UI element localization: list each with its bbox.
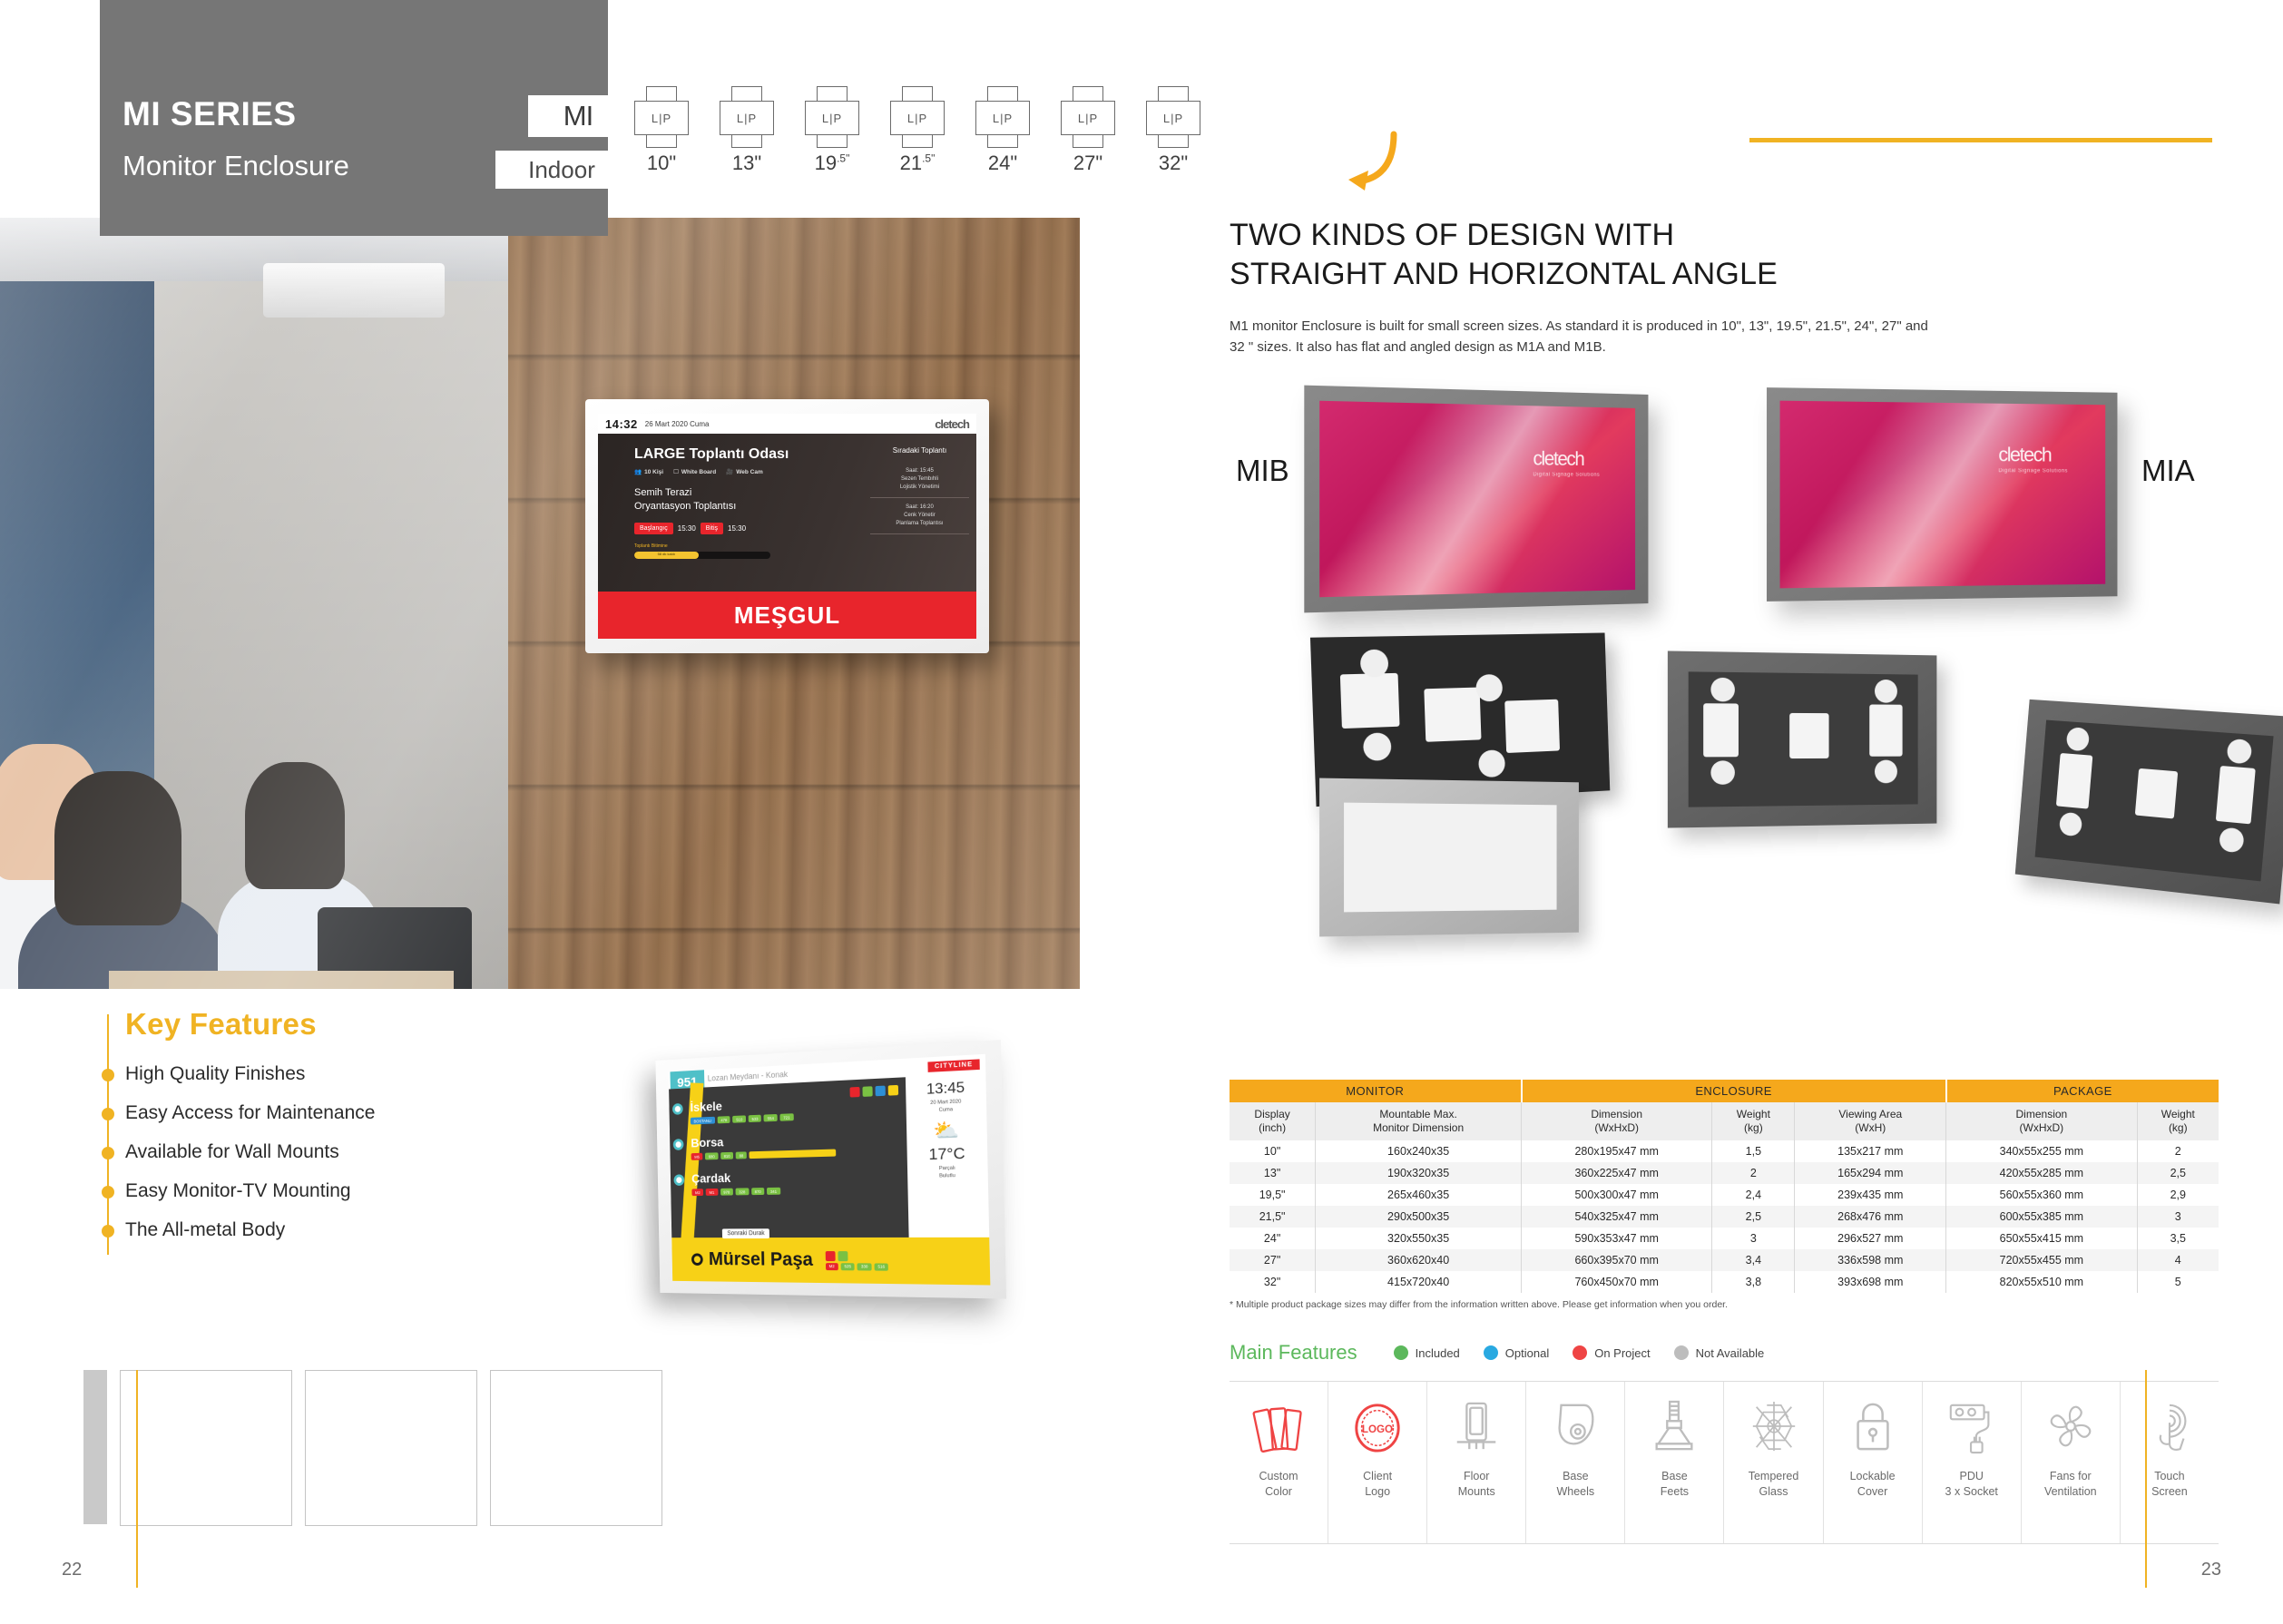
col-enclosure-dimension: Dimension(WxHxD) (1522, 1102, 1712, 1140)
lock-icon (1845, 1394, 1901, 1460)
catalog-spread: 14:32 26 Mart 2020 Cuma cletech LARGE To… (0, 0, 2283, 1624)
frame-cutout (1703, 703, 1739, 757)
cell-enc-weight: 2 (1712, 1162, 1795, 1184)
frame-hole (2066, 727, 2091, 751)
legend-dot-optional (1484, 1345, 1498, 1360)
model-label-m1b: MIB (1236, 454, 1289, 488)
size-label-13: 13" (711, 152, 782, 175)
stop-item: Borsa M5 680 810 88 (691, 1129, 906, 1160)
line-badge: 478 (718, 1116, 730, 1123)
line-badge: 680 (705, 1152, 718, 1159)
feature-label: TouchScreen (2151, 1469, 2188, 1500)
feature-custom-color: CustomColor (1230, 1382, 1328, 1543)
main-features-legend: Included Optional On Project Not Availab… (1394, 1345, 1765, 1360)
section-heading-line-2: STRAIGHT AND HORIZONTAL ANGLE (1230, 255, 1778, 294)
key-feature-label: Easy Monitor-TV Mounting (125, 1180, 351, 1201)
cell-pkg-weight: 4 (2137, 1249, 2219, 1271)
lp-core-label: L|P (805, 101, 859, 135)
tempered-glass-icon (1746, 1394, 1802, 1460)
table-body: 10" 160x240x35 280x195x47 mm 1,5 135x217… (1230, 1140, 2219, 1293)
enclosure-frame-dark-1 (1668, 651, 1937, 827)
feature-label: CustomColor (1259, 1469, 1298, 1500)
legend-dot-on-project (1573, 1345, 1587, 1360)
bullet-dot-icon (102, 1186, 114, 1198)
feature-label: BaseWheels (1556, 1469, 1594, 1500)
cell-viewing: 239x435 mm (1795, 1184, 1946, 1206)
next-stop-dot-icon (691, 1253, 703, 1266)
stop-item: İskele BOSTANLI 478 510 533 554 721 (690, 1091, 906, 1125)
size-label-10: 10" (626, 152, 697, 175)
cell-mountable: 265x460x35 (1316, 1184, 1522, 1206)
line-badge: 330 (857, 1263, 872, 1270)
enclosure-m1b-screen: cletech Digital Signage Solutions (1319, 401, 1635, 598)
cell-pkg-dim: 650x55x415 mm (1946, 1228, 2137, 1249)
next-stop-banner: Sonraki Durak Mürsel Paşa M2 525 33 (671, 1238, 990, 1286)
cell-enc-weight: 3,8 (1712, 1271, 1795, 1293)
frame-cutout (1869, 704, 1902, 756)
line-badge: 341 (767, 1188, 780, 1195)
feature-label: Fans forVentilation (2044, 1469, 2097, 1500)
enclosure-frame-dark-2 (2015, 699, 2283, 905)
feature-label: FloorMounts (1458, 1469, 1495, 1500)
amenity-capacity-label: 10 Kişi (644, 469, 663, 475)
bracket-cutout (1424, 688, 1481, 742)
legend-label-included: Included (1416, 1346, 1460, 1360)
key-features-rule (107, 1014, 109, 1255)
amenity-whiteboard-label: White Board (681, 469, 716, 475)
key-features-title: Key Features (125, 1007, 590, 1042)
line-badge: BOSTANLI (691, 1117, 715, 1125)
cell-pkg-weight: 2,5 (2137, 1162, 2219, 1184)
feature-lockable-cover: LockableCover (1824, 1382, 1923, 1543)
brand-logo-tagline: Digital Signage Solutions (1533, 472, 1600, 477)
bracket-hole (1478, 749, 1505, 778)
size-label-19-5: 19.5" (797, 152, 867, 175)
legend-label-on-project: On Project (1594, 1346, 1650, 1360)
next-meeting-1-topic: Lojistik Yönetimi (870, 484, 969, 492)
device-topbar: 14:32 26 Mart 2020 Cuma cletech (598, 414, 976, 434)
feature-label: PDU3 x Socket (1945, 1469, 1998, 1500)
frame-cutout (1789, 713, 1828, 758)
next-stop-lines: M2 525 330 516 (825, 1251, 888, 1271)
meeting-times: Başlangıç 15:30 Bitiş 15:30 (634, 523, 863, 534)
transit-body: İskele BOSTANLI 478 510 533 554 721 (669, 1073, 989, 1238)
model-label-m1a: MIA (2141, 454, 2195, 488)
size-label-24: 24" (967, 152, 1038, 175)
line-badge: 328 (736, 1188, 750, 1195)
fan-icon (2043, 1394, 2099, 1460)
next-stop-icon-row (825, 1251, 888, 1261)
specifications-table: MONITOR ENCLOSURE PACKAGE Display(inch) … (1230, 1080, 2219, 1293)
meeting-organizer-block: Semih Terazi Oryantasyon Toplantısı (634, 486, 863, 514)
next-meetings-panel: Sıradaki Toplantı Saat: 15:45 Sezen Temb… (863, 434, 976, 592)
frame-opening (2035, 720, 2274, 882)
line-badge: 533 (749, 1115, 762, 1122)
table-column-header-row: Display(inch) Mountable Max.Monitor Dime… (1230, 1102, 2219, 1140)
page-number-right: 23 (2201, 1560, 2221, 1580)
page-title: MI SERIES (122, 95, 297, 133)
cell-enc-weight: 2,4 (1712, 1184, 1795, 1206)
size-badge-27: L|P 27" (1053, 91, 1123, 175)
bullet-dot-icon (102, 1147, 114, 1159)
next-meeting-1: Saat: 15:45 Sezen Tembıhli Lojistik Yöne… (870, 462, 969, 498)
table-row: 13" 190x320x35 360x225x47 mm 2 165x294 m… (1230, 1162, 2219, 1184)
cell-pkg-weight: 2 (2137, 1140, 2219, 1162)
stop-lines: M5 680 810 88 (691, 1147, 907, 1160)
bus-icon (838, 1251, 848, 1261)
line-badge: 516 (874, 1263, 888, 1270)
cell-pkg-weight: 3,5 (2137, 1228, 2219, 1249)
table-footnote: * Multiple product package sizes may dif… (1230, 1299, 1728, 1310)
line-badge: M2 (826, 1263, 838, 1270)
cell-display: 21,5" (1230, 1206, 1316, 1228)
cell-mountable: 320x550x35 (1316, 1228, 1522, 1249)
info-panel: 13:45 20 Mart 2020 Cuma ⛅ 17°C Parçalı B… (906, 1073, 989, 1238)
transit-display-device: 951 Lozan Meydanı - Konak CITYLINE (626, 1043, 1007, 1306)
cell-mountable: 160x240x35 (1316, 1140, 1522, 1162)
size-badge-24: L|P 24" (967, 91, 1038, 175)
color-swatch-row (83, 1370, 662, 1526)
route-destination: Lozan Meydanı - Konak (708, 1070, 789, 1082)
enclosure-m1b: cletech Digital Signage Solutions (1304, 386, 1648, 613)
amenity-webcam: 🎥 Web Cam (726, 468, 763, 475)
legend-not-available: Not Available (1674, 1345, 1765, 1360)
key-feature-label: High Quality Finishes (125, 1063, 305, 1084)
line-badge: 870 (751, 1188, 765, 1195)
pdu-socket-icon (1944, 1394, 2000, 1460)
group-header-enclosure: ENCLOSURE (1522, 1080, 1946, 1102)
meeting-progress-fill: 58 dk kaldı (634, 552, 699, 559)
transit-clock: 13:45 (909, 1079, 982, 1099)
line-badge: 510 (733, 1115, 746, 1122)
key-feature-item: Easy Monitor-TV Mounting (125, 1180, 590, 1202)
table-row: 24" 320x550x35 590x353x47 mm 3 296x527 m… (1230, 1228, 2219, 1249)
lp-core-label: L|P (720, 101, 774, 135)
cell-enc-dim: 500x300x47 mm (1522, 1184, 1712, 1206)
brand-logo-text: cletech (1533, 446, 1583, 469)
table-row: 10" 160x240x35 280x195x47 mm 1,5 135x217… (1230, 1140, 2219, 1162)
cell-enc-weight: 2,5 (1712, 1206, 1795, 1228)
next-stop-name: Mürsel Paşa (709, 1249, 813, 1271)
start-label: Başlangıç (634, 523, 673, 534)
key-feature-item: Easy Access for Maintenance (125, 1102, 590, 1124)
frame-opening (1689, 671, 1918, 807)
frame-cutout (2056, 753, 2092, 809)
brand-logo-text: cletech (1998, 444, 2051, 466)
end-time: 15:30 (728, 524, 746, 533)
cell-mountable: 290x500x35 (1316, 1206, 1522, 1228)
size-label-27: 27" (1053, 152, 1123, 175)
base-feet-icon (1646, 1394, 1702, 1460)
cell-viewing: 268x476 mm (1795, 1206, 1946, 1228)
stop-name: Çardak (691, 1167, 907, 1186)
product-render-stage: cletech Digital Signage Solutions cletec… (1207, 381, 2278, 1034)
cell-display: 19,5" (1230, 1184, 1316, 1206)
cell-pkg-dim: 720x55x455 mm (1946, 1249, 2137, 1271)
frame-hole (1710, 760, 1735, 785)
frame-cutout (2216, 766, 2256, 824)
line-badge: 978 (720, 1189, 733, 1196)
feature-icon-strip: CustomColor LOGO ClientLogo (1230, 1381, 2219, 1544)
feature-label: BaseFeets (1661, 1469, 1689, 1500)
cell-pkg-dim: 820x55x510 mm (1946, 1271, 2137, 1293)
key-feature-label: The All-metal Body (125, 1219, 285, 1240)
bracket-hole (1475, 674, 1503, 702)
lp-core-label: L|P (634, 101, 689, 135)
feature-pdu-socket: PDU3 x Socket (1923, 1382, 2022, 1543)
transit-date: 20 Mart 2020 Cuma (910, 1098, 983, 1115)
legend-label-optional: Optional (1505, 1346, 1549, 1360)
cell-enc-dim: 360x225x47 mm (1522, 1162, 1712, 1184)
cell-viewing: 336x598 mm (1795, 1249, 1946, 1271)
legend-label-not-available: Not Available (1696, 1346, 1765, 1360)
next-meeting-2: Saat: 16:20 Cenk Yönetir Planlama Toplan… (870, 498, 969, 534)
table-row: 21,5" 290x500x35 540x325x47 mm 2,5 268x4… (1230, 1206, 2219, 1228)
next-meeting-2-topic: Planlama Toplantısı (870, 520, 969, 528)
room-booking-screen: 14:32 26 Mart 2020 Cuma cletech LARGE To… (598, 414, 976, 639)
device-body: LARGE Toplantı Odası 👥 10 Kişi ☐ White B… (598, 434, 976, 592)
room-status-banner: MEŞGUL (598, 592, 976, 639)
page-number-left: 22 (62, 1560, 82, 1580)
progress-label: Toplantı Bitimine (634, 543, 863, 549)
section-heading-line-1: TWO KINDS OF DESIGN WITH (1230, 216, 1778, 255)
section-heading: TWO KINDS OF DESIGN WITH STRAIGHT AND HO… (1230, 216, 1778, 293)
cell-display: 27" (1230, 1249, 1316, 1271)
lp-orientation-icon: L|P (1053, 91, 1123, 143)
line-badge: 88 (736, 1151, 747, 1159)
table-group-header-row: MONITOR ENCLOSURE PACKAGE (1230, 1080, 2219, 1102)
enclosure-frame-silver (1319, 778, 1579, 937)
curved-arrow-icon (1341, 127, 1423, 209)
stop-lines: M2 M1 978 328 870 341 (691, 1185, 907, 1196)
cell-pkg-dim: 420x55x285 mm (1946, 1162, 2137, 1184)
device-main-panel: LARGE Toplantı Odası 👥 10 Kişi ☐ White B… (598, 434, 863, 592)
frame-hole (2219, 827, 2245, 853)
cell-mountable: 190x320x35 (1316, 1162, 1522, 1184)
col-viewing-area: Viewing Area(WxH) (1795, 1102, 1946, 1140)
weather-condition: Parçalı Bulutlu (911, 1165, 984, 1181)
legend-optional: Optional (1484, 1345, 1549, 1360)
right-gutter-rule (2145, 1370, 2147, 1588)
cell-display: 10" (1230, 1140, 1316, 1162)
cell-enc-dim: 760x450x70 mm (1522, 1271, 1712, 1293)
cell-pkg-dim: 340x55x255 mm (1946, 1140, 2137, 1162)
feature-base-feets: BaseFeets (1625, 1382, 1724, 1543)
col-mountable-dimension: Mountable Max.Monitor Dimension (1316, 1102, 1522, 1140)
lp-orientation-icon: L|P (882, 91, 953, 143)
stop-item: Çardak M2 M1 978 328 870 341 (691, 1167, 908, 1196)
bullet-dot-icon (102, 1225, 114, 1238)
cell-pkg-dim: 560x55x360 mm (1946, 1184, 2137, 1206)
size-badge-19-5: L|P 19.5" (797, 91, 867, 175)
feature-base-wheels: BaseWheels (1526, 1382, 1625, 1543)
key-feature-label: Easy Access for Maintenance (125, 1102, 375, 1123)
legend-included: Included (1394, 1345, 1460, 1360)
feature-tempered-glass: TemperedGlass (1724, 1382, 1823, 1543)
screen-brand-logo: cletech Digital Signage Solutions (1533, 446, 1600, 477)
floor-mount-icon (1448, 1394, 1504, 1460)
meeting-organizer: Semih Terazi (634, 486, 863, 500)
next-meeting-2-time: Saat: 16:20 (870, 504, 969, 512)
cell-mountable: 415x720x40 (1316, 1271, 1522, 1293)
bullet-dot-icon (102, 1069, 114, 1081)
line-badge: M1 (706, 1189, 718, 1196)
frame-hole (1875, 680, 1897, 703)
cell-viewing: 135x217 mm (1795, 1140, 1946, 1162)
meeting-title: Oryantasyon Toplantısı (634, 500, 863, 514)
svg-text:LOGO: LOGO (1362, 1423, 1393, 1435)
col-display: Display(inch) (1230, 1102, 1316, 1140)
swatch-tab (83, 1370, 107, 1524)
cell-enc-weight: 3,4 (1712, 1249, 1795, 1271)
bracket-hole (1363, 732, 1392, 761)
feature-client-logo: LOGO ClientLogo (1328, 1382, 1427, 1543)
size-label-21-5: 21.5" (882, 152, 953, 175)
key-features-section: Key Features High Quality Finishes Easy … (100, 1007, 590, 1258)
line-badge: M2 (691, 1189, 703, 1196)
cell-enc-weight: 1,5 (1712, 1140, 1795, 1162)
left-gutter-rule (136, 1370, 138, 1588)
key-feature-label: Available for Wall Mounts (125, 1141, 339, 1162)
feature-label: ClientLogo (1363, 1469, 1392, 1500)
swatch-box-2 (305, 1370, 477, 1526)
room-amenities: 👥 10 Kişi ☐ White Board 🎥 Web Cam (634, 468, 863, 475)
group-header-package: PACKAGE (1946, 1080, 2219, 1102)
next-stop-label: Sonraki Durak (722, 1228, 770, 1238)
size-badge-row: L|P 10" L|P 13" L|P 19.5" (626, 91, 1209, 175)
cell-enc-dim: 280x195x47 mm (1522, 1140, 1712, 1162)
cityline-logo: CITYLINE (928, 1059, 980, 1072)
feature-label: TemperedGlass (1749, 1469, 1799, 1500)
group-header-monitor: MONITOR (1230, 1080, 1522, 1102)
cell-enc-dim: 660x395x70 mm (1522, 1249, 1712, 1271)
cell-mountable: 360x620x40 (1316, 1249, 1522, 1271)
cell-viewing: 296x527 mm (1795, 1228, 1946, 1249)
environment-tag: Indoor (495, 151, 628, 189)
line-badge: 721 (779, 1113, 793, 1120)
cell-pkg-weight: 3 (2137, 1206, 2219, 1228)
lp-orientation-icon: L|P (626, 91, 697, 143)
cell-viewing: 393x698 mm (1795, 1271, 1946, 1293)
lp-core-label: L|P (890, 101, 945, 135)
size-badge-21-5: L|P 21.5" (882, 91, 953, 175)
lp-orientation-icon: L|P (967, 91, 1038, 143)
device-brand-logo: cletech (935, 417, 969, 431)
key-feature-item: High Quality Finishes (125, 1063, 590, 1085)
model-tag: MI (528, 95, 628, 137)
device-clock: 14:32 (605, 417, 638, 431)
meeting-room-title: LARGE Toplantı Odası (634, 446, 863, 463)
amenity-capacity: 👥 10 Kişi (634, 468, 663, 475)
cell-display: 24" (1230, 1228, 1316, 1249)
legend-dot-included (1394, 1345, 1408, 1360)
cell-pkg-weight: 5 (2137, 1271, 2219, 1293)
frame-hole (1875, 760, 1897, 784)
stop-name: Borsa (691, 1129, 906, 1150)
frame-opening (1344, 803, 1557, 913)
col-package-dimension: Dimension(WxHxD) (1946, 1102, 2137, 1140)
legend-on-project: On Project (1573, 1345, 1650, 1360)
frame-hole (2059, 812, 2082, 837)
next-stop-badge-row: M2 525 330 516 (826, 1263, 889, 1271)
col-enclosure-weight: Weight(kg) (1712, 1102, 1795, 1140)
bracket-cutout (1504, 699, 1560, 753)
touch-screen-icon (2141, 1394, 2198, 1460)
main-features-header: Main Features Included Optional On Proje… (1230, 1341, 1764, 1365)
bracket-cutout (1340, 673, 1400, 729)
room-booking-device: 14:32 26 Mart 2020 Cuma cletech LARGE To… (585, 399, 989, 653)
color-swatches-icon (1250, 1394, 1307, 1460)
key-features-list: High Quality Finishes Easy Access for Ma… (100, 1063, 590, 1241)
client-logo-icon: LOGO (1349, 1394, 1406, 1460)
frame-hole (2226, 739, 2252, 765)
caster-wheel-icon (1547, 1394, 1603, 1460)
start-time: 15:30 (678, 524, 696, 533)
swatch-box-1 (120, 1370, 292, 1526)
stop-dot-icon (673, 1174, 684, 1186)
transit-device-body: 951 Lozan Meydanı - Konak CITYLINE (655, 1040, 1006, 1299)
lp-orientation-icon: L|P (797, 91, 867, 143)
cell-enc-dim: 540x325x47 mm (1522, 1206, 1712, 1228)
cell-pkg-dim: 600x55x385 mm (1946, 1206, 2137, 1228)
cell-pkg-weight: 2,9 (2137, 1184, 2219, 1206)
section-body-text: M1 monitor Enclosure is built for small … (1230, 316, 1937, 358)
page-subtitle: Monitor Enclosure (122, 150, 349, 182)
stop-dot-icon (672, 1103, 683, 1115)
transit-screen: 951 Lozan Meydanı - Konak CITYLINE (669, 1054, 991, 1286)
table-row: 27" 360x620x40 660x395x70 mm 3,4 336x598… (1230, 1249, 2219, 1271)
weather-icon: ⛅ (910, 1118, 984, 1145)
condition-line-2: Bulutlu (911, 1172, 984, 1181)
lp-core-label: L|P (975, 101, 1030, 135)
lp-orientation-icon: L|P (711, 91, 782, 143)
accent-rule (1749, 138, 2212, 142)
swatch-box-3 (490, 1370, 662, 1526)
key-feature-item: The All-metal Body (125, 1219, 590, 1241)
table-row: 32" 415x720x40 760x450x70 mm 3,8 393x698… (1230, 1271, 2219, 1293)
main-features-title: Main Features (1230, 1341, 1357, 1365)
cell-enc-weight: 3 (1712, 1228, 1795, 1249)
line-badge: 525 (840, 1263, 855, 1270)
screen-brand-logo: cletech Digital Signage Solutions (1998, 444, 2068, 474)
brand-logo-tagline: Digital Signage Solutions (1998, 469, 2068, 474)
legend-dot-not-available (1674, 1345, 1689, 1360)
feature-touch-screen: TouchScreen (2121, 1382, 2219, 1543)
end-label: Bitiş (701, 523, 723, 534)
enclosure-m1a: cletech Digital Signage Solutions (1767, 387, 2117, 602)
stop-dot-icon (673, 1139, 684, 1150)
line-badge: 810 (720, 1152, 733, 1159)
frame-cutout (2135, 768, 2178, 819)
enclosure-m1a-screen: cletech Digital Signage Solutions (1780, 401, 2106, 589)
line-badge: M5 (691, 1153, 703, 1160)
next-meeting-2-person: Cenk Yönetir (870, 512, 969, 520)
cell-enc-dim: 590x353x47 mm (1522, 1228, 1712, 1249)
lp-core-label: L|P (1146, 101, 1200, 135)
cell-viewing: 165x294 mm (1795, 1162, 1946, 1184)
cell-display: 32" (1230, 1271, 1316, 1293)
cell-display: 13" (1230, 1162, 1316, 1184)
line-badge: 554 (764, 1114, 778, 1121)
device-date: 26 Mart 2020 Cuma (645, 420, 710, 428)
feature-fans-ventilation: Fans forVentilation (2022, 1382, 2121, 1543)
feature-floor-mounts: FloorMounts (1427, 1382, 1526, 1543)
table-row: 19,5" 265x460x35 500x300x47 mm 2,4 239x4… (1230, 1184, 2219, 1206)
next-meetings-title: Sıradaki Toplantı (870, 446, 969, 455)
frame-hole (1710, 678, 1735, 702)
next-meeting-1-time: Saat: 15:45 (870, 467, 969, 475)
amenity-whiteboard: ☐ White Board (673, 468, 716, 475)
